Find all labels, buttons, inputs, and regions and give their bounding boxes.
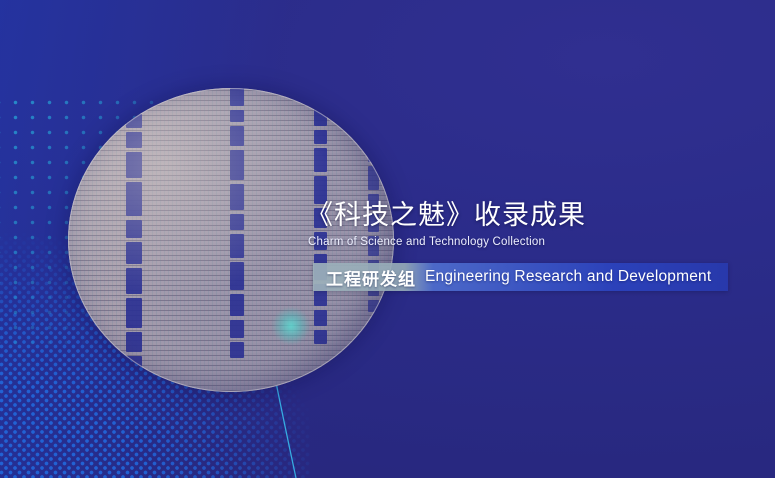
group-name-en: Engineering Research and Development — [416, 268, 711, 286]
group-name-zh: 工程研发组 — [313, 265, 416, 290]
page-title: 《科技之魅》收录成果 — [306, 199, 586, 231]
slide-canvas: 《科技之魅》收录成果 Charm of Science and Technolo… — [0, 0, 775, 478]
page-subtitle: Charm of Science and Technology Collecti… — [308, 235, 545, 250]
group-banner: 工程研发组 Engineering Research and Developme… — [313, 263, 728, 291]
